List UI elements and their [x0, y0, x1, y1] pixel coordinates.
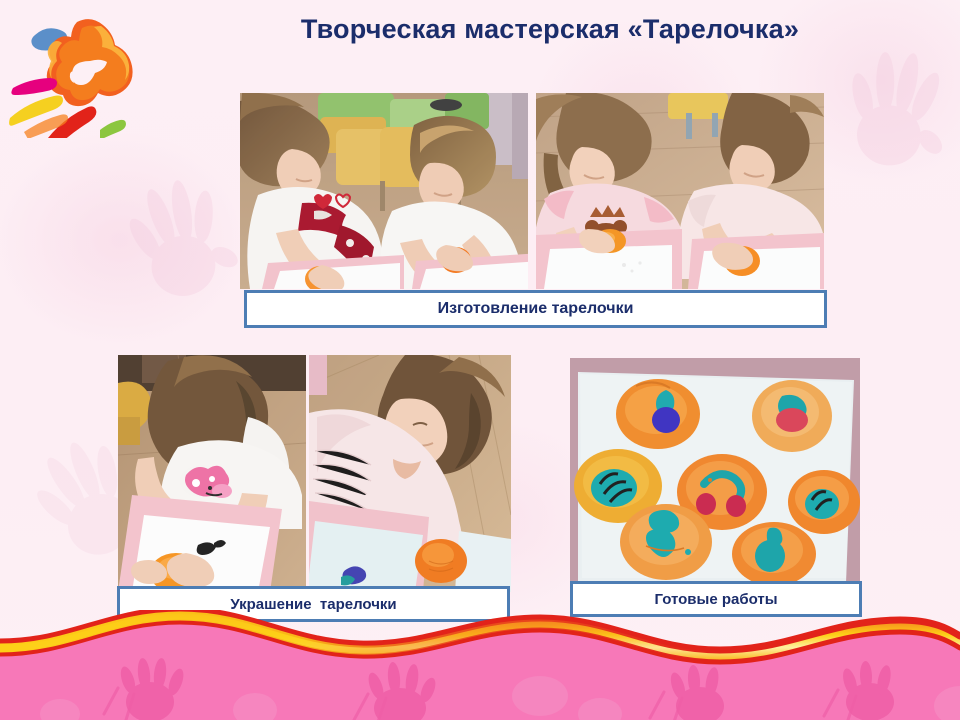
background-handprint-watermark [107, 159, 253, 321]
photo-finished-works-plates [570, 358, 860, 583]
caption-text: Изготовление тарелочки [438, 300, 634, 318]
bottom-wave-band [0, 610, 960, 720]
colorful-handprint-logo [4, 6, 152, 138]
page-title: Творческая мастерская «Тарелочка» [240, 14, 860, 45]
caption-text: Готовые работы [654, 591, 777, 608]
slide-canvas: Творческая мастерская «Тарелочка» [0, 0, 960, 720]
photo-decorating-plate-girl-pink-cardigan [309, 355, 511, 592]
photo-making-plate-two-children [240, 93, 528, 289]
photo-decorating-plate-girl-white-shirt [118, 355, 306, 592]
background-handprint-watermark [825, 31, 960, 188]
photo-making-plate-two-girls [536, 93, 824, 289]
caption-making-plate: Изготовление тарелочки [244, 290, 827, 328]
